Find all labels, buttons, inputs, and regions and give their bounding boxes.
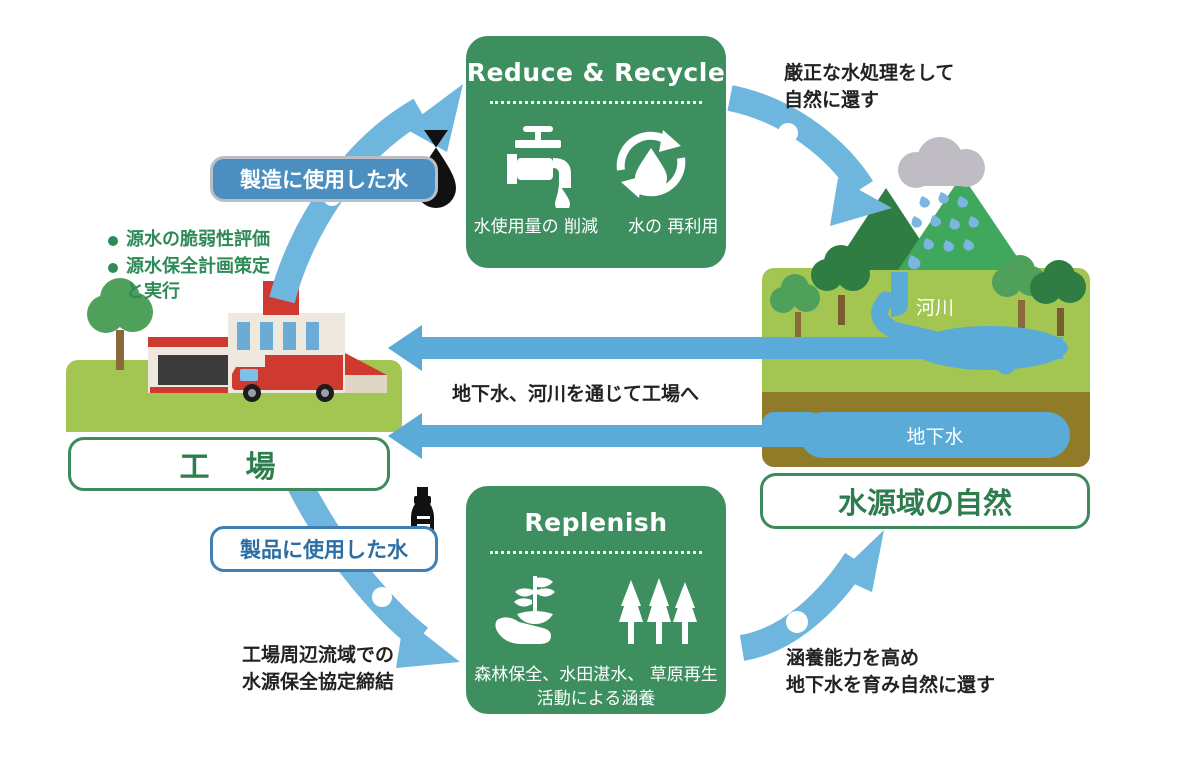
groundwater-label: 地下水 <box>800 412 1070 458</box>
site-label-factory[interactable]: 工 場 <box>68 437 390 491</box>
arrow-factory-to-replenish <box>300 485 460 668</box>
arrow-reduce-to-nature <box>730 98 892 226</box>
card-reduce-recycle[interactable]: Reduce & Recycle <box>466 36 726 268</box>
water-recycle-icon <box>607 120 695 208</box>
card-caption: 水の 再利用 <box>628 216 718 239</box>
river-label: 河川 <box>916 293 954 320</box>
water-cycle-diagram: Reduce & Recycle <box>0 0 1200 770</box>
faucet-drip-icon <box>497 120 589 208</box>
pill-manufacturing-water[interactable]: 製造に使用した水 <box>210 156 438 202</box>
bullet-text: 源水の脆弱性評価 <box>126 228 270 253</box>
site-label-nature-text: 水源域の自然 <box>838 480 1012 522</box>
card-icons-reduce-recycle <box>497 120 695 208</box>
card-captions-reduce-recycle: 水使用量の 削減 水の 再利用 <box>474 216 719 239</box>
site-label-nature[interactable]: 水源域の自然 <box>760 473 1090 529</box>
card-caption: 森林保全、水田湛水、 草原再生活動による涵養 <box>466 664 726 712</box>
card-icons-replenish <box>491 570 701 652</box>
card-divider <box>490 101 702 104</box>
caption-return-to-factory: 地下水、河川を通じて工場へ <box>452 381 699 408</box>
bullet-dot-icon <box>108 236 118 246</box>
card-divider <box>490 551 702 554</box>
card-replenish[interactable]: Replenish <box>466 486 726 714</box>
caption-treatment: 厳正な水処理をして 自然に還す <box>784 60 954 114</box>
card-title-reduce-recycle: Reduce & Recycle <box>467 58 726 87</box>
caption-recharge-capacity: 涵養能力を高め 地下水を育み自然に還す <box>786 645 995 699</box>
pill-product-water[interactable]: 製品に使用した水 <box>210 526 438 572</box>
site-label-factory-text: 工 場 <box>180 442 279 486</box>
bullet-item: 源水の脆弱性評価 <box>108 228 338 253</box>
caption-watershed-agreement: 工場周辺流域での 水源保全協定締結 <box>218 642 418 696</box>
arrow-replenish-to-nature <box>742 530 884 648</box>
source-water-bullets: 源水の脆弱性評価 源水保全計画策定 と実行 <box>108 228 338 306</box>
bullet-dot-icon <box>108 263 118 273</box>
pill-manufacturing-water-text: 製造に使用した水 <box>240 164 408 194</box>
card-title-replenish: Replenish <box>524 508 667 537</box>
bullet-item: 源水保全計画策定 と実行 <box>108 255 338 305</box>
forest-trees-icon <box>601 570 701 652</box>
groundwater-label-text: 地下水 <box>906 422 963 449</box>
card-caption: 水使用量の 削減 <box>474 216 598 239</box>
hand-seedling-icon <box>491 570 583 652</box>
pill-product-water-text: 製品に使用した水 <box>240 534 408 564</box>
bullet-text: 源水保全計画策定 と実行 <box>126 255 270 305</box>
